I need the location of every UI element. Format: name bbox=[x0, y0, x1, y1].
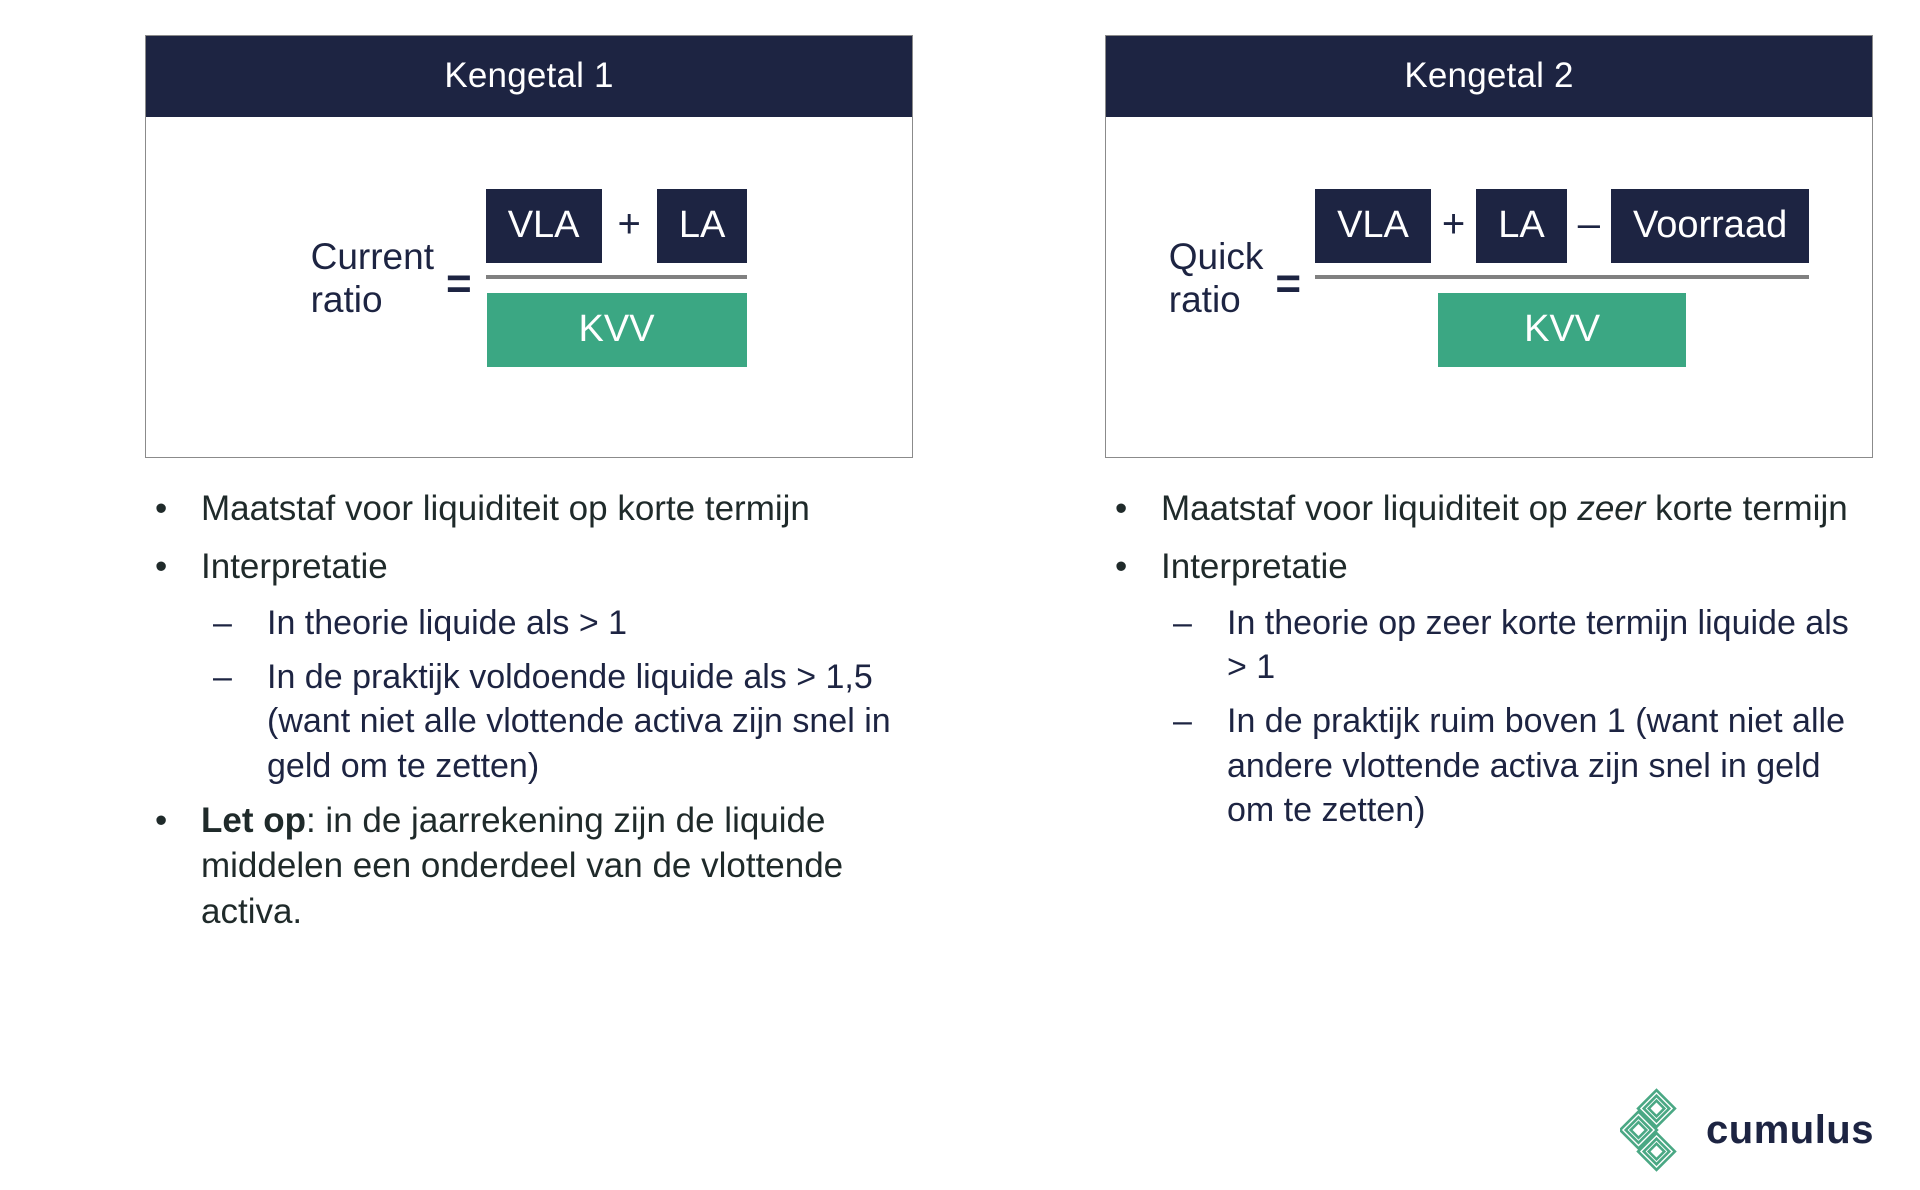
card-body-kengetal-1: Current ratio = VLA + LA KVV bbox=[146, 117, 912, 457]
bullet-text: Let op: in de jaarrekening zijn de liqui… bbox=[201, 798, 905, 935]
formula-card-kengetal-2: Kengetal 2 Quick ratio = VLA + LA – Voor… bbox=[1105, 35, 1873, 458]
fraction-numerator: VLA + LA bbox=[486, 189, 748, 275]
cumulus-mark-svg bbox=[1620, 1088, 1692, 1172]
slide-canvas: Kengetal 1 Current ratio = VLA + LA bbox=[0, 0, 1920, 1190]
bullet-marker: • bbox=[1105, 486, 1161, 532]
list-item: • Let op: in de jaarrekening zijn de liq… bbox=[145, 798, 905, 935]
card-title-kengetal-2: Kengetal 2 bbox=[1106, 36, 1872, 117]
fraction-numerator: VLA + LA – Voorraad bbox=[1315, 189, 1809, 275]
equals-sign: = bbox=[446, 262, 472, 306]
column-kengetal-2: Kengetal 2 Quick ratio = VLA + LA – Voor… bbox=[960, 0, 1920, 1190]
chip-voorraad: Voorraad bbox=[1611, 189, 1809, 263]
bullet-text: Maatstaf voor liquiditeit op zeer korte … bbox=[1161, 486, 1865, 532]
two-column-layout: Kengetal 1 Current ratio = VLA + LA bbox=[0, 0, 1920, 1190]
chip-vla: VLA bbox=[486, 189, 602, 263]
operator-plus: + bbox=[1431, 204, 1476, 244]
bullet-marker: – bbox=[1173, 699, 1227, 743]
list-item: – In theorie liquide als > 1 bbox=[213, 601, 905, 645]
card-title-kengetal-1: Kengetal 1 bbox=[146, 36, 912, 117]
bullet-list-kengetal-1: • Maatstaf voor liquiditeit op korte ter… bbox=[145, 486, 905, 934]
list-item: • Interpretatie bbox=[145, 544, 905, 590]
bullet-text: In theorie liquide als > 1 bbox=[267, 601, 905, 645]
list-item: – In theorie op zeer korte termijn liqui… bbox=[1173, 601, 1865, 689]
chip-la: LA bbox=[1476, 189, 1566, 263]
bullet-marker: – bbox=[213, 655, 267, 699]
bullet-text: In theorie op zeer korte termijn liquide… bbox=[1227, 601, 1865, 689]
bullet-list-kengetal-2: • Maatstaf voor liquiditeit op zeer kort… bbox=[1105, 486, 1865, 832]
bullet-text: Interpretatie bbox=[201, 544, 905, 590]
list-item: • Maatstaf voor liquiditeit op korte ter… bbox=[145, 486, 905, 532]
chip-la: LA bbox=[657, 189, 747, 263]
bullet-marker: • bbox=[145, 486, 201, 532]
column-kengetal-1: Kengetal 1 Current ratio = VLA + LA bbox=[0, 0, 960, 1190]
cumulus-wordmark: cumulus bbox=[1706, 1110, 1874, 1150]
chip-kvv: KVV bbox=[1438, 293, 1686, 367]
fraction-denominator: KVV bbox=[1315, 279, 1809, 367]
formula-current-ratio: Current ratio = VLA + LA KVV bbox=[146, 117, 912, 457]
bullet-marker: • bbox=[145, 798, 201, 844]
operator-minus: – bbox=[1567, 204, 1611, 244]
fraction-denominator: KVV bbox=[486, 279, 748, 367]
card-body-kengetal-2: Quick ratio = VLA + LA – Voorraad bbox=[1106, 117, 1872, 457]
list-item: – In de praktijk voldoende liquide als >… bbox=[213, 655, 905, 788]
operator-plus: + bbox=[602, 204, 657, 244]
chip-vla: VLA bbox=[1315, 189, 1431, 263]
cumulus-diamond-c-logo-icon bbox=[1620, 1088, 1692, 1172]
bullet-marker: – bbox=[213, 601, 267, 645]
list-item: – In de praktijk ruim boven 1 (want niet… bbox=[1173, 699, 1865, 832]
fraction-quick-ratio: VLA + LA – Voorraad KVV bbox=[1315, 189, 1809, 367]
bullet-text: In de praktijk ruim boven 1 (want niet a… bbox=[1227, 699, 1865, 832]
chip-kvv: KVV bbox=[487, 293, 747, 367]
list-item: • Interpretatie bbox=[1105, 544, 1865, 590]
formula-label-current-ratio: Current ratio bbox=[311, 235, 434, 322]
list-item: • Maatstaf voor liquiditeit op zeer kort… bbox=[1105, 486, 1865, 532]
bullet-marker: – bbox=[1173, 601, 1227, 645]
bullet-text: Maatstaf voor liquiditeit op korte termi… bbox=[201, 486, 905, 532]
formula-card-kengetal-1: Kengetal 1 Current ratio = VLA + LA bbox=[145, 35, 913, 458]
equals-sign: = bbox=[1275, 262, 1301, 306]
bullet-text: In de praktijk voldoende liquide als > 1… bbox=[267, 655, 905, 788]
cumulus-logo: cumulus bbox=[1620, 1088, 1874, 1172]
bullet-marker: • bbox=[145, 544, 201, 590]
fraction-current-ratio: VLA + LA KVV bbox=[486, 189, 748, 367]
formula-quick-ratio: Quick ratio = VLA + LA – Voorraad bbox=[1106, 117, 1872, 457]
bullet-text: Interpretatie bbox=[1161, 544, 1865, 590]
bullet-marker: • bbox=[1105, 544, 1161, 590]
formula-label-quick-ratio: Quick ratio bbox=[1169, 235, 1264, 322]
